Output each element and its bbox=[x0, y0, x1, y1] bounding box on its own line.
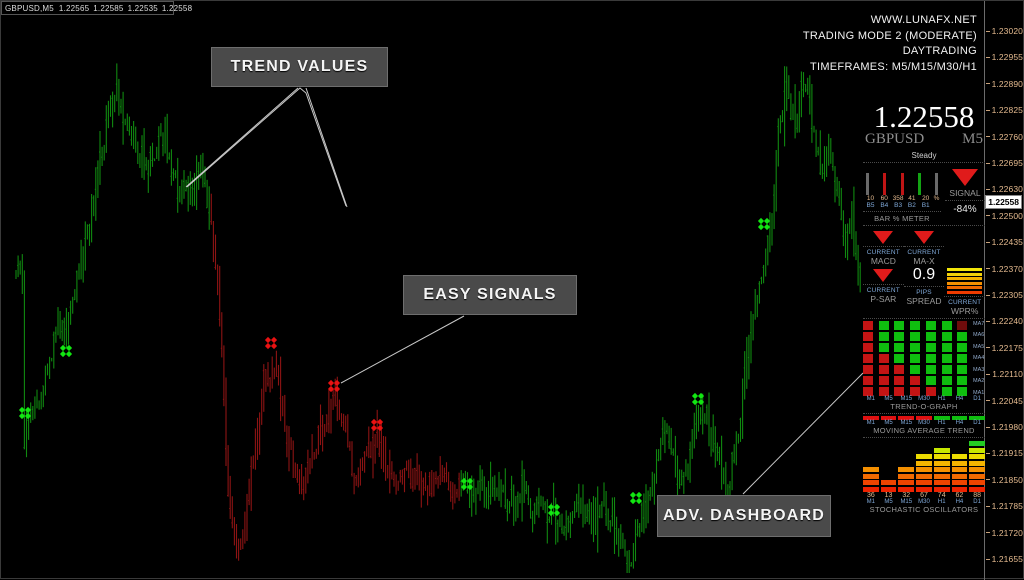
trend-row-label: MA6 bbox=[973, 332, 985, 338]
timeframe-label: M15 bbox=[898, 396, 914, 402]
price-tick: 1.21850 bbox=[986, 475, 1023, 485]
stochastic-segment bbox=[916, 467, 932, 472]
stochastic-columns bbox=[863, 440, 985, 492]
timeframe-label: M5 bbox=[881, 499, 897, 505]
trend-cell bbox=[957, 343, 967, 352]
stochastic-segment bbox=[898, 474, 914, 479]
trend-cell bbox=[942, 365, 952, 374]
trend-row-label: MA7 bbox=[973, 321, 985, 327]
bar-meter-bar bbox=[866, 173, 869, 195]
indicator-psar: CURRENT P-SAR bbox=[863, 266, 904, 316]
chart-titlebar[interactable]: GBPUSD,M5 1.22565 1.22585 1.22535 1.2255… bbox=[1, 1, 174, 15]
stochastic-value: 62 bbox=[952, 492, 968, 499]
stochastic-segment bbox=[952, 474, 968, 479]
stochastic-segment bbox=[898, 480, 914, 485]
dashboard-timeframe: M5 bbox=[962, 131, 983, 148]
trend-cell bbox=[894, 321, 904, 330]
signal-percent: -84% bbox=[945, 204, 985, 215]
indicator-spread: 0.9 PIPS SPREAD bbox=[904, 266, 945, 316]
stochastic-column bbox=[952, 454, 968, 492]
stochastic-segment bbox=[916, 474, 932, 479]
trend-cell bbox=[957, 376, 967, 385]
trend-cell bbox=[957, 321, 967, 330]
price-tick: 1.21915 bbox=[986, 448, 1023, 458]
psar-name: P-SAR bbox=[863, 294, 904, 304]
stochastic-segment bbox=[952, 467, 968, 472]
trend-cell bbox=[894, 365, 904, 374]
indicator-wpr-spacer bbox=[944, 228, 985, 266]
bar-meter-key: B1 bbox=[919, 202, 932, 209]
stochastic-column bbox=[934, 448, 950, 492]
macd-name: MACD bbox=[863, 256, 904, 266]
timeframe-label: M15 bbox=[898, 499, 914, 505]
stochastic-value: 32 bbox=[898, 492, 914, 499]
stochastic-segment bbox=[969, 474, 985, 479]
wpr-state: CURRENT bbox=[944, 299, 985, 306]
stochastic-segment bbox=[863, 467, 879, 472]
trend-cell bbox=[910, 365, 920, 374]
wpr-bar bbox=[947, 277, 982, 280]
timeframe-label: H4 bbox=[952, 499, 968, 505]
divider bbox=[863, 225, 985, 226]
stochastic-segment bbox=[934, 480, 950, 485]
price-tick: 1.22370 bbox=[986, 264, 1023, 274]
bar-meter-value: 60 bbox=[878, 195, 891, 202]
stochastic-segment bbox=[863, 480, 879, 485]
trend-o-graph-caption: TREND-O-GRAPH bbox=[863, 402, 985, 411]
bar-meter-caption: BAR % METER bbox=[863, 214, 941, 223]
timeframe-label: M5 bbox=[881, 396, 897, 402]
trend-cell bbox=[926, 376, 936, 385]
trend-cell bbox=[894, 332, 904, 341]
trend-cell bbox=[894, 343, 904, 352]
price-tick: 1.22825 bbox=[986, 105, 1023, 115]
dashboard-status: Steady bbox=[863, 151, 985, 160]
trend-cell bbox=[910, 387, 920, 396]
signal-panel: SIGNAL -84% bbox=[945, 165, 985, 223]
header-mode: TRADING MODE 2 (MODERATE) bbox=[803, 29, 977, 45]
wpr-name: WPR% bbox=[944, 306, 985, 316]
trend-o-graph-row-labels: MA7MA6MA5MA4MA3MA2MA1 bbox=[971, 321, 985, 396]
trend-cell bbox=[942, 376, 952, 385]
trend-cell bbox=[879, 321, 889, 330]
stochastic-column bbox=[969, 441, 985, 492]
max-state: CURRENT bbox=[904, 249, 945, 256]
trend-row-label: MA4 bbox=[973, 355, 985, 361]
header-style: DAYTRADING bbox=[803, 44, 977, 60]
trend-cell bbox=[910, 332, 920, 341]
psar-state: CURRENT bbox=[863, 287, 904, 294]
price-tick: 1.22305 bbox=[986, 290, 1023, 300]
stochastic-segment bbox=[916, 454, 932, 459]
price-tick: 1.22045 bbox=[986, 396, 1023, 406]
max-arrow-down-icon bbox=[914, 231, 934, 244]
trend-o-graph: MA7MA6MA5MA4MA3MA2MA1 bbox=[863, 321, 985, 396]
bar-meter-values: 10603584120% bbox=[863, 195, 941, 202]
signal-arrow-down-icon bbox=[952, 169, 978, 186]
header-timeframes: TIMEFRAMES: M5/M15/M30/H1 bbox=[803, 60, 977, 76]
stochastic-segment bbox=[934, 467, 950, 472]
trend-cell bbox=[863, 387, 873, 396]
trend-cell bbox=[926, 365, 936, 374]
price-tick: 1.21720 bbox=[986, 528, 1023, 538]
stochastic-value: 74 bbox=[934, 492, 950, 499]
bar-meter-key: B5 bbox=[864, 202, 877, 209]
price-tick: 1.22110 bbox=[986, 369, 1023, 379]
timeframe-label: D1 bbox=[969, 396, 985, 402]
divider bbox=[863, 437, 985, 438]
price-tick: 1.23020 bbox=[986, 26, 1023, 36]
price-tick: 1.21655 bbox=[986, 554, 1023, 564]
stochastic-column bbox=[881, 480, 897, 492]
stochastic-segment bbox=[969, 441, 985, 446]
divider bbox=[904, 246, 945, 247]
titlebar-quote-open: 1.22565 bbox=[59, 4, 89, 13]
trend-cell bbox=[863, 365, 873, 374]
stochastic-segment bbox=[934, 448, 950, 453]
stochastic-segment bbox=[969, 461, 985, 466]
trend-cell bbox=[926, 387, 936, 396]
timeframe-label: M5 bbox=[881, 420, 897, 426]
psar-arrow-down-icon bbox=[873, 269, 893, 282]
branding-header: WWW.LUNAFX.NET TRADING MODE 2 (MODERATE)… bbox=[803, 13, 977, 75]
trend-cell bbox=[863, 332, 873, 341]
moving-average-trend-caption: MOVING AVERAGE TREND bbox=[863, 426, 985, 435]
trend-cell bbox=[894, 387, 904, 396]
price-tick: 1.22630 bbox=[986, 184, 1023, 194]
bar-meter-key: B4 bbox=[878, 202, 891, 209]
stochastic-column bbox=[916, 454, 932, 492]
bar-meter-bar bbox=[883, 173, 886, 195]
macd-state: CURRENT bbox=[863, 249, 904, 256]
timeframe-label: M1 bbox=[863, 499, 879, 505]
price-tick: 1.22435 bbox=[986, 237, 1023, 247]
stochastic-segment bbox=[952, 454, 968, 459]
trend-cell bbox=[957, 354, 967, 363]
stochastic-segment bbox=[969, 448, 985, 453]
trend-cell bbox=[910, 376, 920, 385]
trend-cell bbox=[894, 354, 904, 363]
trend-cell bbox=[879, 376, 889, 385]
signal-label: SIGNAL bbox=[945, 188, 985, 198]
bar-meter-key: B3 bbox=[892, 202, 905, 209]
trend-cell bbox=[926, 354, 936, 363]
wpr-bar bbox=[947, 282, 982, 285]
timeframe-label: M30 bbox=[916, 396, 932, 402]
price-tick: 1.22695 bbox=[986, 158, 1023, 168]
stochastic-segment bbox=[934, 454, 950, 459]
macd-arrow-down-icon bbox=[873, 231, 893, 244]
stochastic-segment bbox=[898, 467, 914, 472]
timeframe-label: D1 bbox=[969, 420, 985, 426]
trend-cell bbox=[910, 354, 920, 363]
trend-cell bbox=[942, 387, 952, 396]
bar-meter-value: 20 bbox=[919, 195, 932, 202]
timeframe-label: M15 bbox=[898, 420, 914, 426]
price-tick: 1.22955 bbox=[986, 52, 1023, 62]
trend-row-label: MA5 bbox=[973, 344, 985, 350]
stochastic-value: 88 bbox=[969, 492, 985, 499]
trend-cell bbox=[879, 332, 889, 341]
trend-cell bbox=[957, 365, 967, 374]
stochastic-column bbox=[863, 467, 879, 492]
divider bbox=[945, 200, 985, 201]
price-tick: 1.22240 bbox=[986, 316, 1023, 326]
stochastic-segment bbox=[952, 461, 968, 466]
titlebar-quote-low: 1.22535 bbox=[128, 4, 158, 13]
trend-cell bbox=[926, 332, 936, 341]
timeframe-label: D1 bbox=[969, 499, 985, 505]
wpr-bar bbox=[947, 273, 982, 276]
max-name: MA-X bbox=[904, 256, 945, 266]
bar-meter-bar bbox=[935, 173, 938, 195]
trend-cell bbox=[863, 376, 873, 385]
wpr-bars bbox=[944, 266, 985, 294]
trend-cell bbox=[879, 387, 889, 396]
stochastic-segment bbox=[969, 467, 985, 472]
stochastic-segment bbox=[952, 480, 968, 485]
timeframe-label: H4 bbox=[952, 396, 968, 402]
trend-cell bbox=[894, 376, 904, 385]
spread-value: 0.9 bbox=[904, 266, 945, 284]
bar-meter-bar bbox=[918, 173, 921, 195]
divider bbox=[904, 286, 945, 287]
trend-cell bbox=[926, 321, 936, 330]
price-tick: 1.22175 bbox=[986, 343, 1023, 353]
trend-cell bbox=[957, 387, 967, 396]
current-price-tag: 1.22558 bbox=[985, 195, 1022, 209]
spread-name: SPREAD bbox=[904, 296, 945, 306]
bar-meter-unit: % bbox=[933, 195, 940, 202]
trend-o-graph-matrix bbox=[863, 321, 971, 396]
trend-cell bbox=[942, 332, 952, 341]
stochastic-value: 36 bbox=[863, 492, 879, 499]
wpr-bar bbox=[947, 291, 982, 294]
trend-cell bbox=[879, 365, 889, 374]
timeframe-label: H4 bbox=[952, 420, 968, 426]
stochastic-timeframes: M1M5M15M30H1H4D1 bbox=[863, 499, 985, 505]
price-tick: 1.22500 bbox=[986, 211, 1023, 221]
trend-cell bbox=[957, 332, 967, 341]
bar-meter-key: B2 bbox=[905, 202, 918, 209]
titlebar-quote-close: 1.22558 bbox=[162, 4, 192, 13]
trend-cell bbox=[942, 343, 952, 352]
stochastic-caption: STOCHASTIC OSCILLATORS bbox=[863, 505, 985, 514]
timeframe-label: H1 bbox=[934, 420, 950, 426]
trend-cell bbox=[926, 343, 936, 352]
titlebar-quote-high: 1.22585 bbox=[93, 4, 123, 13]
header-site: WWW.LUNAFX.NET bbox=[803, 13, 977, 29]
indicator-row-2: CURRENT P-SAR 0.9 PIPS SPREAD CURRENT WP… bbox=[863, 266, 985, 316]
wpr-bar bbox=[947, 286, 982, 289]
indicator-row-1: CURRENT MACD CURRENT MA-X bbox=[863, 228, 985, 266]
trend-row-label: MA2 bbox=[973, 378, 985, 384]
price-tick: 1.22760 bbox=[986, 132, 1023, 142]
trend-cell bbox=[910, 343, 920, 352]
trend-o-graph-timeframes: M1M5M15M30H1H4D1 bbox=[863, 396, 985, 402]
timeframe-label: M1 bbox=[863, 396, 879, 402]
timeframe-label: M30 bbox=[916, 499, 932, 505]
trend-cell bbox=[863, 354, 873, 363]
callout-adv-dashboard[interactable]: ADV. DASHBOARD bbox=[657, 495, 831, 537]
callout-easy-signals[interactable]: EASY SIGNALS bbox=[403, 275, 577, 315]
wpr-bar bbox=[947, 268, 982, 271]
bar-meter-keys: B5B4B3B2B1 bbox=[863, 202, 941, 209]
trend-cell bbox=[942, 321, 952, 330]
divider bbox=[863, 413, 985, 414]
divider bbox=[863, 318, 985, 319]
price-tick: 1.21980 bbox=[986, 422, 1023, 432]
price-tick: 1.22890 bbox=[986, 79, 1023, 89]
timeframe-label: M1 bbox=[863, 420, 879, 426]
divider bbox=[863, 284, 904, 285]
divider bbox=[944, 296, 985, 297]
price-axis[interactable]: 1.230201.229551.228901.228251.227601.226… bbox=[984, 1, 1023, 580]
bar-percent-meter: 10603584120% B5B4B3B2B1 BAR % METER bbox=[863, 165, 941, 223]
trend-cell bbox=[910, 321, 920, 330]
divider bbox=[863, 162, 985, 163]
trend-cell bbox=[879, 343, 889, 352]
timeframe-label: H1 bbox=[934, 499, 950, 505]
bar-meter-value: 41 bbox=[905, 195, 918, 202]
bar-meter-bar bbox=[901, 173, 904, 195]
timeframe-label: M30 bbox=[916, 420, 932, 426]
bar-meter-bars bbox=[863, 165, 941, 195]
divider bbox=[863, 211, 941, 212]
bar-meter-value: 358 bbox=[892, 195, 905, 202]
stochastic-segment bbox=[934, 474, 950, 479]
stochastic-value: 67 bbox=[916, 492, 932, 499]
trend-row-label: MA3 bbox=[973, 367, 985, 373]
trend-cell bbox=[863, 343, 873, 352]
trend-cell bbox=[942, 354, 952, 363]
spacer bbox=[933, 202, 940, 209]
stochastic-segment bbox=[934, 461, 950, 466]
stochastic-segment bbox=[863, 474, 879, 479]
indicator-max: CURRENT MA-X bbox=[904, 228, 945, 266]
stochastic-values: 36133267746288 bbox=[863, 492, 985, 499]
titlebar-symbol: GBPUSD,M5 bbox=[5, 4, 54, 13]
divider bbox=[863, 246, 904, 247]
bar-meter-value: 10 bbox=[864, 195, 877, 202]
stochastic-segment bbox=[969, 480, 985, 485]
stochastic-segment bbox=[881, 480, 897, 485]
timeframe-label: H1 bbox=[934, 396, 950, 402]
callout-trend-values[interactable]: TREND VALUES bbox=[211, 47, 388, 87]
dashboard-price: 1.22558 bbox=[863, 101, 985, 133]
trend-cell bbox=[879, 354, 889, 363]
indicator-macd: CURRENT MACD bbox=[863, 228, 904, 266]
stochastic-segment bbox=[969, 454, 985, 459]
stochastic-segment bbox=[916, 461, 932, 466]
stochastic-value: 13 bbox=[881, 492, 897, 499]
indicator-wpr: CURRENT WPR% bbox=[944, 266, 985, 316]
dashboard-symbol: GBPUSD bbox=[865, 131, 924, 148]
spread-state: PIPS bbox=[904, 289, 945, 296]
price-tick: 1.21785 bbox=[986, 501, 1023, 511]
moving-average-trend-timeframes: M1M5M15M30H1H4D1 bbox=[863, 420, 985, 426]
trend-cell bbox=[863, 321, 873, 330]
stochastic-column bbox=[898, 467, 914, 492]
trading-terminal-window: GBPUSD,M5 1.22565 1.22585 1.22535 1.2255… bbox=[0, 0, 1024, 579]
stochastic-segment bbox=[916, 480, 932, 485]
advanced-dashboard: 1.22558 GBPUSD M5 Steady 10603584120% B5… bbox=[863, 101, 985, 514]
